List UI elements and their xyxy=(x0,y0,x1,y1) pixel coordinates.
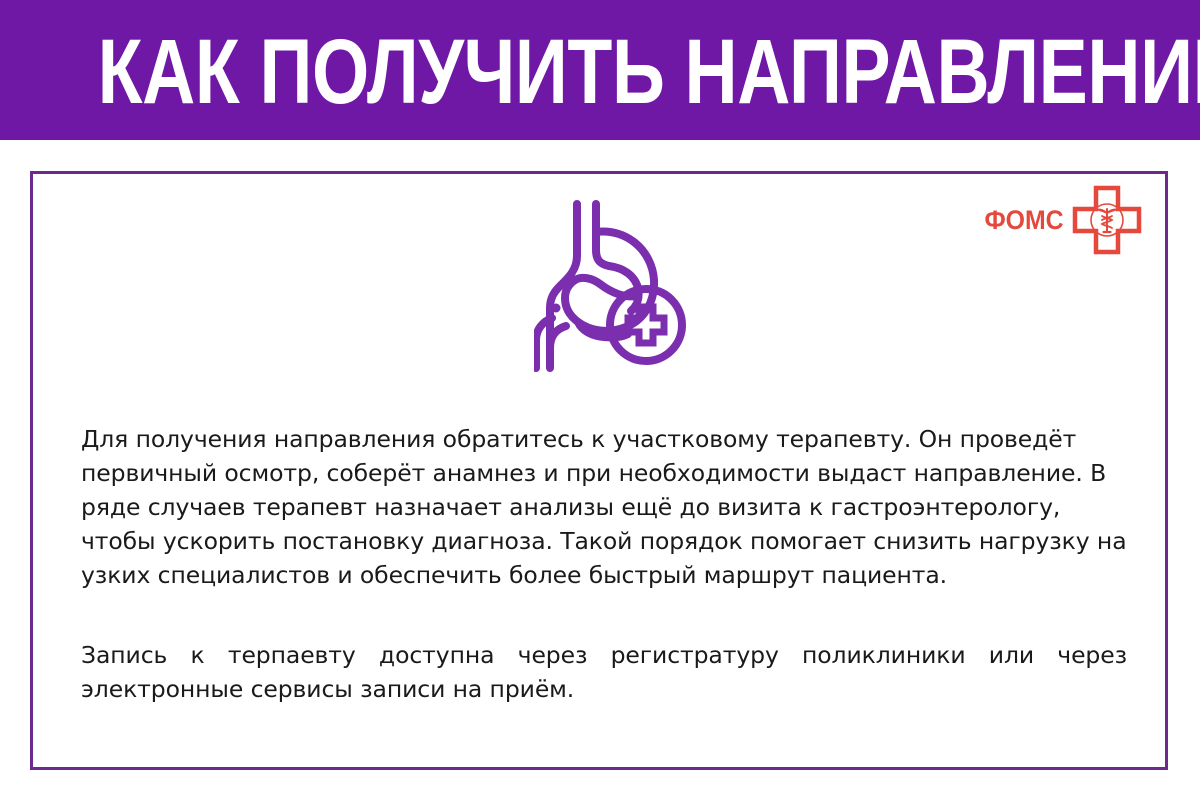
paragraph-2: Запись к терпаевту доступна через регист… xyxy=(81,638,1127,706)
header-banner: КАК ПОЛУЧИТЬ НАПРАВЛЕНИЕ? xyxy=(0,0,1200,140)
page-title: КАК ПОЛУЧИТЬ НАПРАВЛЕНИЕ? xyxy=(0,24,1200,120)
content-card: ФОМС xyxy=(30,171,1168,770)
paragraph-1: Для получения направления обратитесь к у… xyxy=(81,422,1127,592)
illustration-area xyxy=(33,198,1165,373)
stomach-with-medical-cross-icon xyxy=(512,198,686,373)
body-text: Для получения направления обратитесь к у… xyxy=(81,422,1127,706)
